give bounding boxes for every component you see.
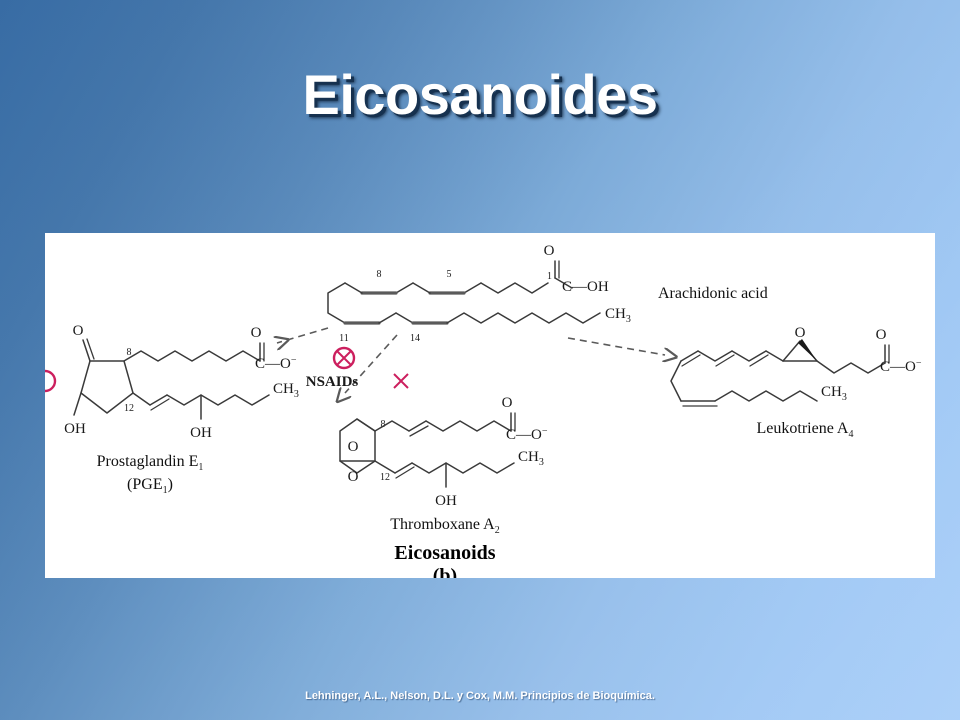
carbon-number-5: 5 [447, 269, 452, 280]
figure-caption-part: (b) [433, 565, 457, 578]
atom-label-carboxylate-lta: C—O− [880, 358, 922, 375]
structure-name-thromboxane: Thromboxane A2 [390, 516, 499, 536]
carbon-number-12-pge: 12 [124, 403, 134, 414]
figure-panel: O C—OH 1 5 8 11 14 CH3 Arachidonic acid [45, 233, 935, 578]
carbon-number-1: 1 [547, 271, 552, 282]
atom-label-epoxide-oxygen: O [795, 325, 806, 341]
slide-canvas: Eicosanoides [0, 0, 960, 720]
atom-label-methyl-pge: CH3 [273, 381, 299, 400]
atom-label-hydroxyl-txa: OH [435, 493, 457, 509]
structure-arachidonic-acid: O C—OH 1 5 8 11 14 CH3 Arachidonic acid [328, 243, 768, 344]
structure-thromboxane-a2: O O 8 12 O C—O− OH CH3 [340, 395, 548, 536]
atom-label-carboxyl-oxygen-pge: O [251, 325, 262, 341]
atom-label-carboxyl-oxygen-lta: O [876, 327, 887, 343]
arrow-to-prostaglandin [277, 328, 328, 343]
nsaids-block-icon-1 [334, 348, 354, 368]
structure-name-arachidonic-acid: Arachidonic acid [658, 285, 768, 302]
carbon-number-11: 11 [339, 333, 349, 344]
nsaids-label: NSAIDs [306, 374, 359, 390]
atom-label-ring-ketone-oxygen: O [73, 323, 84, 339]
atom-label-ring-hydroxyl: OH [64, 421, 86, 437]
atom-label-methyl: CH3 [605, 306, 631, 325]
eicosanoid-pathway-diagram: O C—OH 1 5 8 11 14 CH3 Arachidonic acid [45, 233, 935, 578]
structure-name-pge1-abbrev: (PGE1) [127, 476, 173, 496]
atom-label-carboxyl-carbon: C—OH [562, 279, 609, 295]
atom-label-methyl-txa: CH3 [518, 449, 544, 468]
structure-name-leukotriene: Leukotriene A4 [757, 420, 854, 440]
structure-leukotriene-a4: O O C—O− CH3 Leukotriene A4 [671, 325, 922, 440]
atom-label-ring-oxygen-1: O [348, 439, 359, 455]
carbon-number-14: 14 [410, 333, 420, 344]
structure-prostaglandin-e1: O 8 12 OH O C—O− [64, 323, 299, 496]
arrow-to-leukotriene [568, 338, 665, 355]
atom-label-carboxylate-pge: C—O− [255, 355, 297, 372]
structure-name-prostaglandin: Prostaglandin E1 [97, 453, 204, 473]
source-citation: Lehninger, A.L., Nelson, D.L. y Cox, M.M… [0, 690, 960, 702]
atom-label-ring-oxygen-2: O [348, 469, 359, 485]
nsaids-inhibition-group: NSAIDs [45, 348, 408, 391]
atom-label-carboxylate-txa: C—O− [506, 426, 548, 443]
atom-label-methyl-lta: CH3 [821, 384, 847, 403]
atom-label-carbonyl-oxygen: O [544, 243, 555, 259]
carbon-number-12-txa: 12 [380, 472, 390, 483]
atom-label-chain-hydroxyl-pge: OH [190, 425, 212, 441]
atom-label-carboxyl-oxygen-txa: O [502, 395, 513, 411]
carbon-number-8: 8 [377, 269, 382, 280]
figure-caption-title: Eicosanoids [394, 542, 495, 564]
page-title: Eicosanoides [0, 62, 960, 127]
